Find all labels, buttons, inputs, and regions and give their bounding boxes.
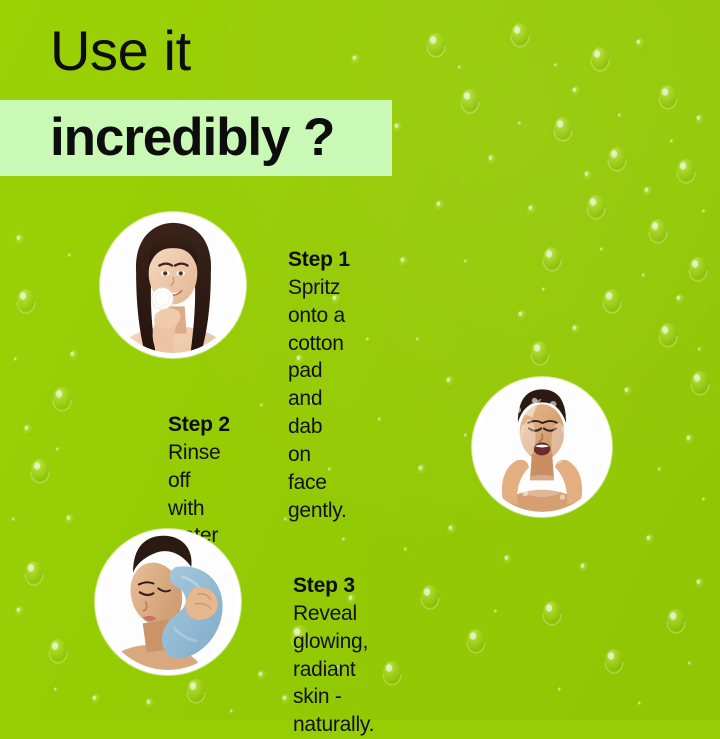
page-title-line-2: incredibly ? [50,102,334,174]
step-3-body: Reveal glowing, radiant skin -naturally. [293,600,374,739]
step-2-photo [472,377,612,517]
step-3-copy: Step 3 Reveal glowing, radiant skin -nat… [293,572,374,739]
step-3-photo [95,529,241,675]
step-1-body: Spritz onto a cotton pad and dab on face… [288,274,350,525]
step-1-photo [100,212,246,358]
step-1-label: Step 1 [288,246,350,274]
step-2-label: Step 2 [168,411,230,439]
page-title-line-1: Use it [50,20,191,83]
step-1-copy: Step 1 Spritz onto a cotton pad and dab … [288,246,350,525]
step-3-label: Step 3 [293,572,374,600]
